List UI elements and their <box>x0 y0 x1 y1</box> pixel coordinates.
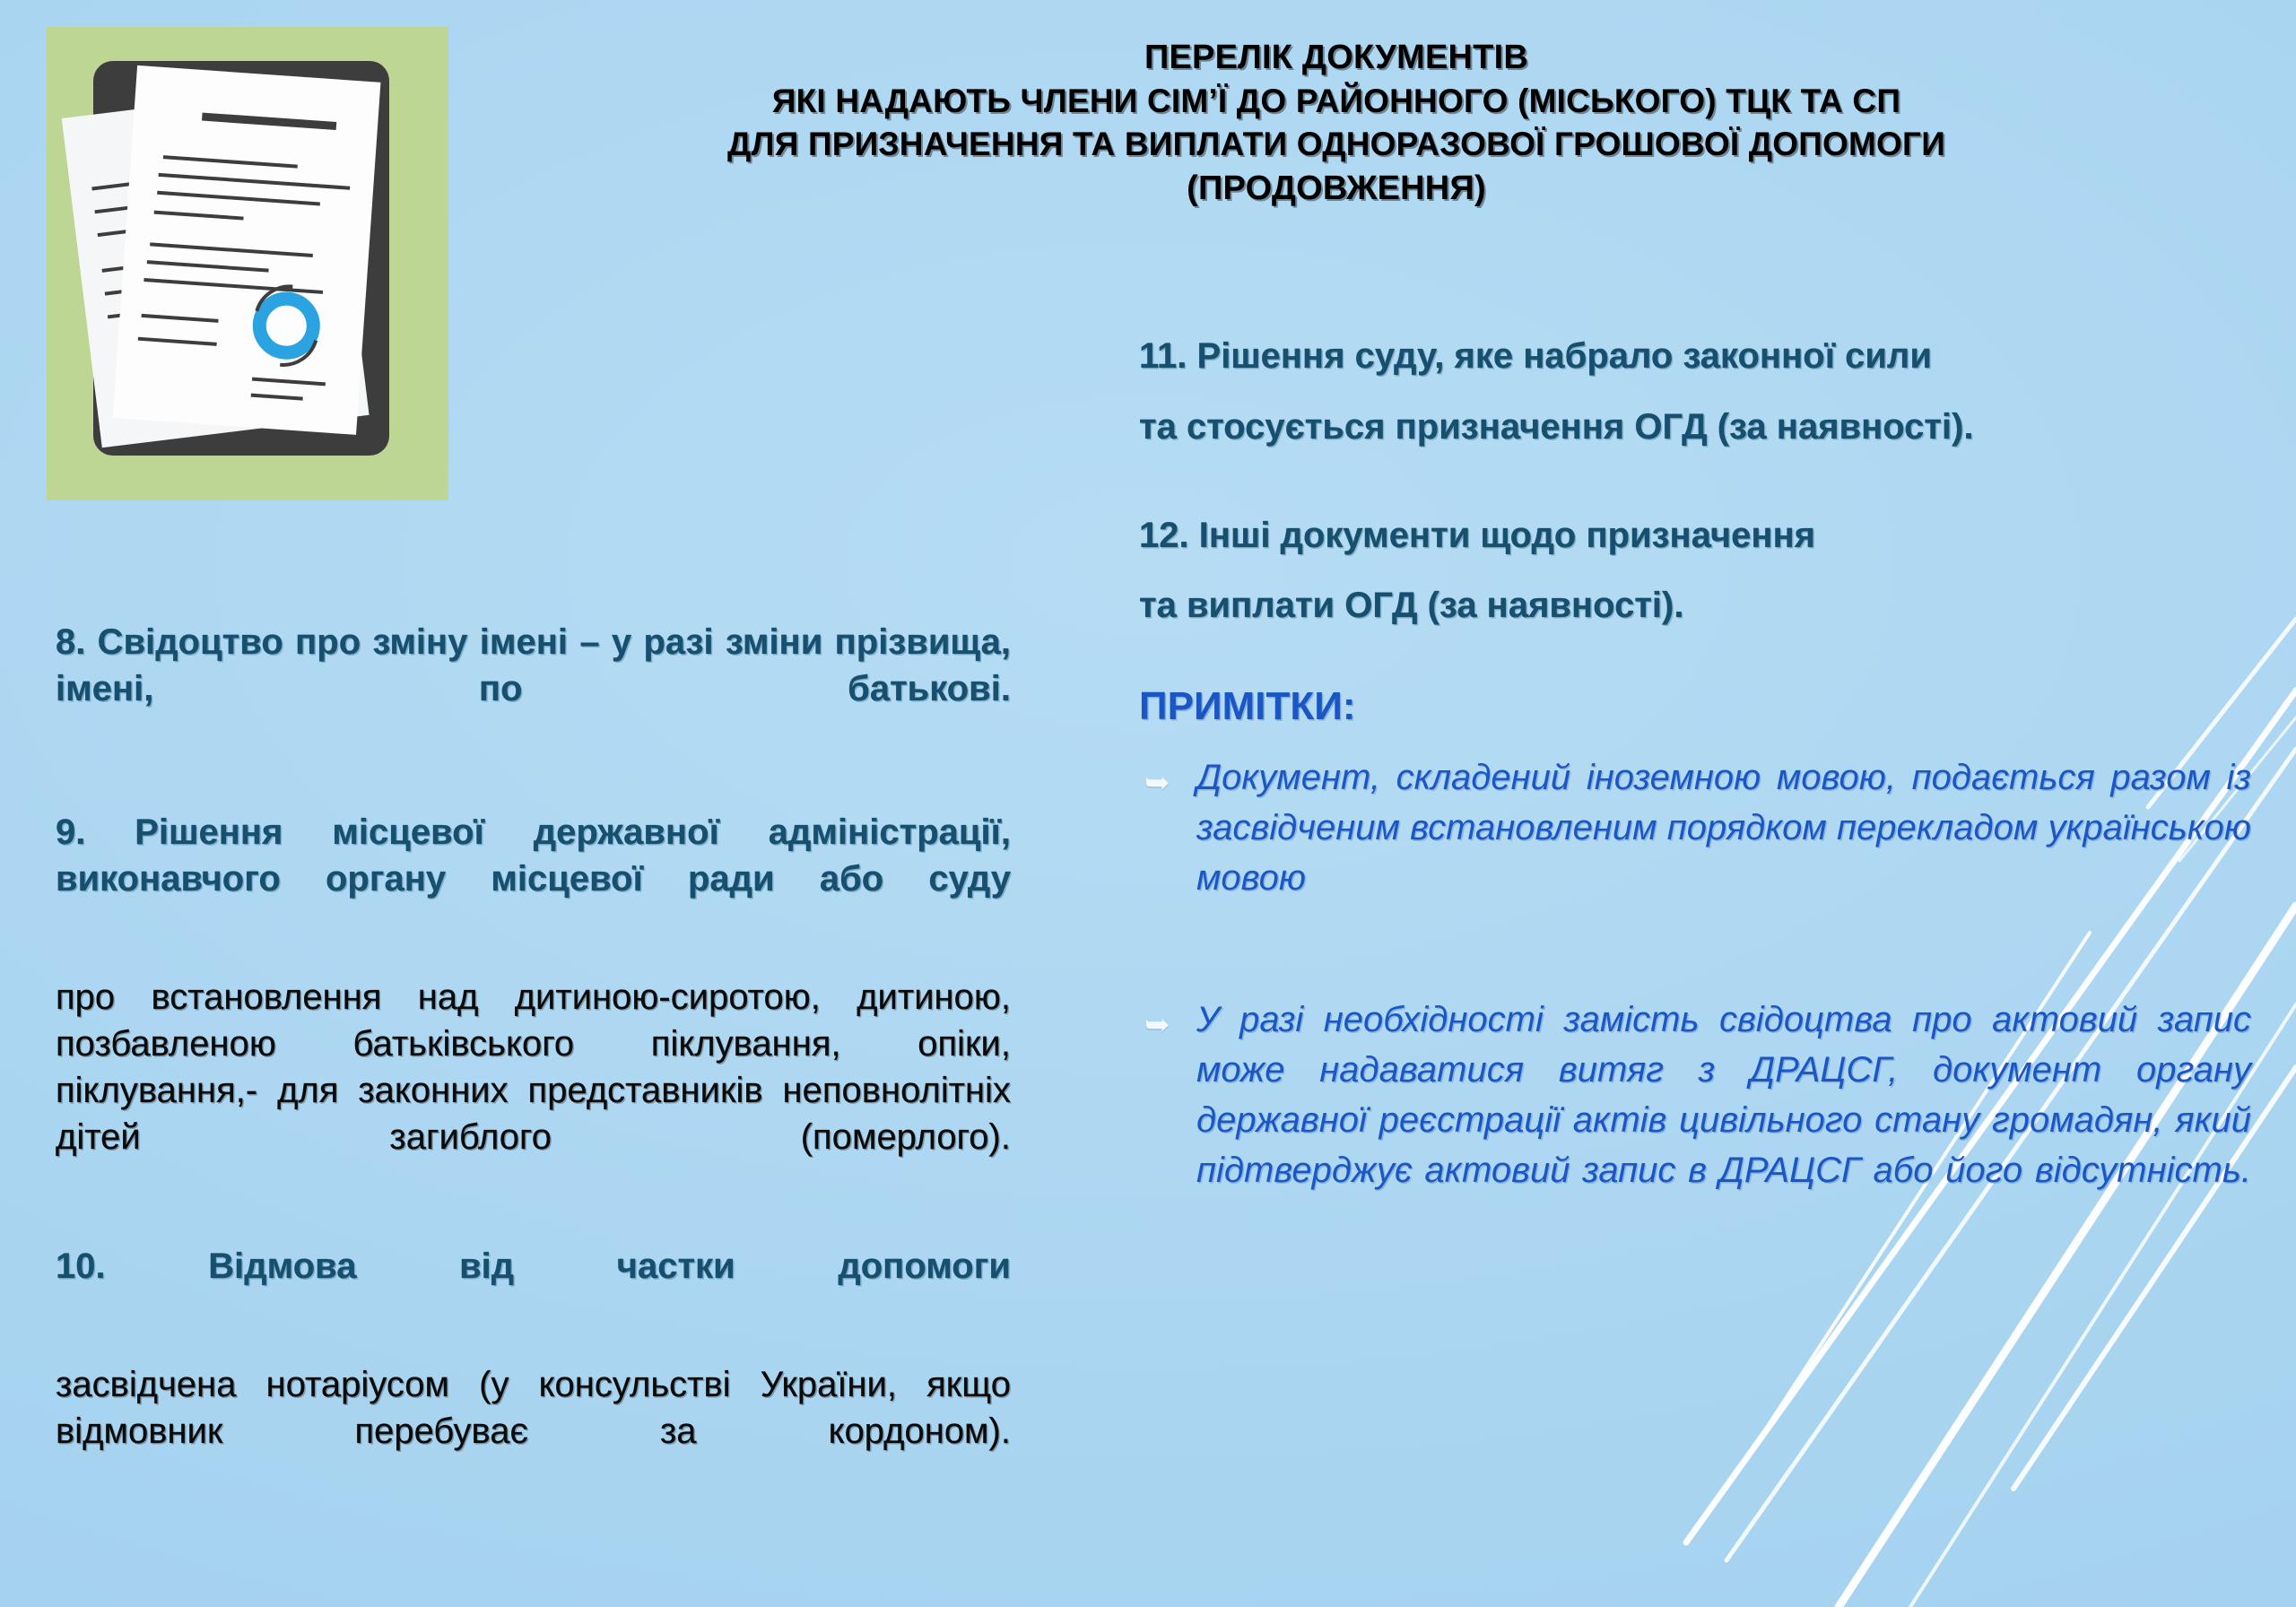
list-item-9-heading: 9. Рішення місцевої державної адміністра… <box>56 809 1011 949</box>
left-content-column: 8. Свідоцтво про зміну імені – у разі зм… <box>56 619 1011 1514</box>
list-item-9-body: про встановлення над дитиною-сиротою, ди… <box>56 974 1011 1207</box>
list-item-10-heading: 10. Відмова від частки допомоги <box>56 1243 1011 1336</box>
notes-heading: ПРИМІТКИ: <box>1139 685 2251 728</box>
spacer <box>56 771 1011 809</box>
spacer <box>56 961 1011 974</box>
documents-stack-image <box>47 27 448 500</box>
note-text: Документ, складений іноземною мовою, под… <box>1196 752 2251 953</box>
spacer <box>1139 469 2251 507</box>
spacer <box>1139 647 2251 685</box>
slide-title: ПЕРЕЛІК ДОКУМЕНТІВ ЯКІ НАДАЮТЬ ЧЛЕНИ СІМ… <box>619 36 2054 211</box>
title-line-2: ЯКІ НАДАЮТЬ ЧЛЕНИ СІМ’Ї ДО РАЙОННОГО (МІ… <box>619 80 2054 123</box>
spacer <box>56 1220 1011 1243</box>
list-item-10-body: засвідчена нотаріусом (у консульстві Укр… <box>56 1361 1011 1501</box>
right-content-column: 11. Рішення суду, яке набрало законної с… <box>1139 327 2251 1287</box>
list-item-11-line-2: та стосується призначення ОГД (за наявно… <box>1139 398 2251 456</box>
spacer <box>56 1349 1011 1361</box>
arrow-bullet-icon: ➥ <box>1144 1007 1180 1043</box>
list-item-12-line-2: та виплати ОГД (за наявності). <box>1139 577 2251 635</box>
note-list-item: ➥ Документ, складений іноземною мовою, п… <box>1139 752 2251 953</box>
arrow-bullet-icon: ➥ <box>1144 765 1180 801</box>
note-list-item: ➥ У разі необхідності замість свідоцтва … <box>1139 995 2251 1246</box>
list-item-8: 8. Свідоцтво про зміну імені – у разі зм… <box>56 619 1011 759</box>
title-line-3: ДЛЯ ПРИЗНАЧЕННЯ ТА ВИПЛАТИ ОДНОРАЗОВОЇ Г… <box>619 123 2054 166</box>
note-text: У разі необхідності замість свідоцтва пр… <box>1196 995 2251 1246</box>
slide-canvas: ПЕРЕЛІК ДОКУМЕНТІВ ЯКІ НАДАЮТЬ ЧЛЕНИ СІМ… <box>0 0 2296 1607</box>
list-item-11-line-1: 11. Рішення суду, яке набрало законної с… <box>1139 327 2251 386</box>
title-line-1: ПЕРЕЛІК ДОКУМЕНТІВ <box>619 36 2054 80</box>
list-item-12-line-1: 12. Інші документи щодо призначення <box>1139 507 2251 565</box>
title-line-4: (ПРОДОВЖЕННЯ) <box>619 167 2054 211</box>
